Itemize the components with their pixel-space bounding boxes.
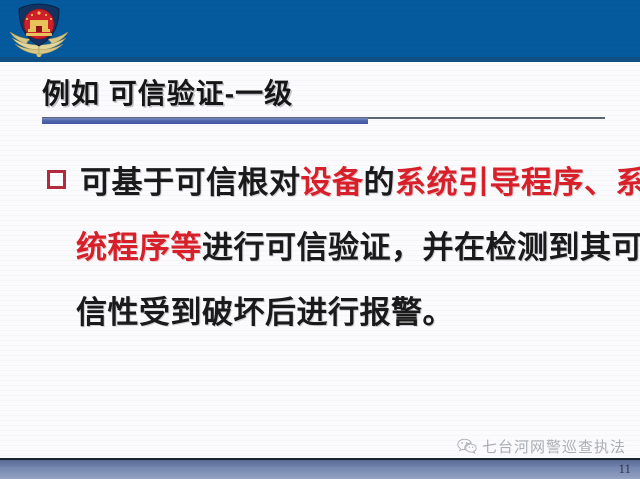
china-police-emblem-icon xyxy=(8,2,70,60)
body-segment: 进行可信验证，并在检测到其可 xyxy=(202,230,640,265)
body-segment: 可基于可信根对 xyxy=(80,165,301,200)
body-line: 可基于可信根对设备的系统引导程序、系 xyxy=(0,150,640,215)
body-line: 统程序等进行可信验证，并在检测到其可 xyxy=(0,215,640,280)
watermark: 七台河网警巡查执法 xyxy=(457,436,626,457)
body-content: 可基于可信根对设备的系统引导程序、系 统程序等进行可信验证，并在检测到其可 信性… xyxy=(0,150,640,345)
title-rule-accent xyxy=(42,118,368,124)
footer-bar: 11 xyxy=(0,458,640,479)
page-title: 例如 可信验证-一级 xyxy=(42,72,293,112)
body-segment-highlight: 统程序等 xyxy=(76,230,202,265)
body-segment-highlight: 设备 xyxy=(301,165,364,200)
wechat-icon xyxy=(457,438,477,455)
body-segment: 信性受到破坏后进行报警。 xyxy=(76,295,454,330)
body-line: 信性受到破坏后进行报警。 xyxy=(0,280,640,345)
header-bar xyxy=(0,0,640,62)
watermark-text: 七台河网警巡查执法 xyxy=(482,436,626,457)
body-segment: 的 xyxy=(364,165,396,200)
slide-canvas: 例如 可信验证-一级 可基于可信根对设备的系统引导程序、系 统程序等进行可信验证… xyxy=(0,0,640,479)
body-segment-highlight: 系统引导程序、系 xyxy=(395,165,640,200)
bullet-square-icon xyxy=(47,170,66,189)
page-number: 11 xyxy=(618,461,631,477)
title-area: 例如 可信验证-一级 xyxy=(0,62,640,134)
